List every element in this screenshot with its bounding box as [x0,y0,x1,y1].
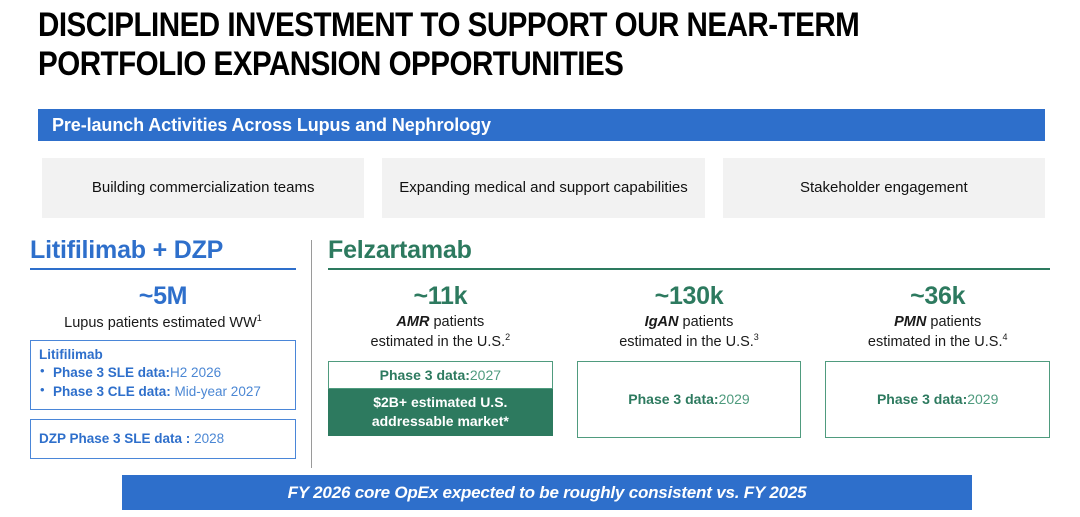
activity-box-expanding-medical-support: Expanding medical and support capabiliti… [382,158,704,218]
metric-caption-amr: AMR patientsestimated in the U.S.2 [328,313,553,352]
page-title-line-2: PORTFOLIO EXPANSION OPPORTUNITIES [38,45,908,84]
phase-data-box-amr: Phase 3 data: 2027 [328,361,553,389]
phase-year: 2027 [470,367,501,383]
opex-banner-label: FY 2026 core OpEx expected to be roughly… [288,483,807,503]
amr-boxes: Phase 3 data: 2027 $2B+ estimated U.S.ad… [328,361,553,436]
metric-value-pmn: ~36k [825,282,1050,311]
caption-line-2: estimated in the U.S. [868,334,1003,350]
indication-abbrev: PMN [894,314,926,330]
list-item: Phase 3 CLE data: Mid-year 2027 [39,382,287,402]
phase-label: Phase 3 data: [628,391,718,407]
page-title-line-1: DISCIPLINED INVESTMENT TO SUPPORT OUR NE… [38,6,908,45]
indication-column-amr: ~11k AMR patientsestimated in the U.S.2 … [328,282,553,438]
prelaunch-activities-banner-label: Pre-launch Activities Across Lupus and N… [52,115,491,136]
activity-box-row: Building commercialization teams Expandi… [42,158,1045,218]
litifilimab-milestone-list: Phase 3 SLE data:H2 2026 Phase 3 CLE dat… [39,363,287,402]
phase-label: Phase 3 data: [877,391,967,407]
pipeline-columns: Litifilimab + DZP ~5M Lupus patients est… [30,236,1050,468]
indication-abbrev: AMR [396,314,429,330]
metric-value-lupus: ~5M [30,282,296,311]
prelaunch-activities-banner: Pre-launch Activities Across Lupus and N… [38,109,1045,141]
phase-data-box-pmn: Phase 3 data: 2029 [825,361,1050,438]
addressable-market-box-amr: $2B+ estimated U.S.addressable market* [328,389,553,436]
column-divider [311,240,312,468]
column-litifilimab-dzp: Litifilimab + DZP ~5M Lupus patients est… [30,236,296,459]
metric-value-amr: ~11k [328,282,553,311]
phase-data-box-igan: Phase 3 data: 2029 [577,361,802,438]
litifilimab-milestone-box: Litifilimab Phase 3 SLE data:H2 2026 Pha… [30,340,296,410]
metric-caption-lupus: Lupus patients estimated WW1 [30,313,296,331]
indication-column-igan: ~130k IgAN patientsestimated in the U.S.… [577,282,802,438]
column-felzartamab: Felzartamab ~11k AMR patientsestimated i… [328,236,1050,438]
milestone-value: H2 2026 [170,365,221,380]
pmn-boxes: Phase 3 data: 2029 [825,361,1050,438]
dzp-milestone-year: 2028 [194,431,224,446]
activity-box-stakeholder-engagement: Stakeholder engagement [723,158,1045,218]
page-title: DISCIPLINED INVESTMENT TO SUPPORT OUR NE… [38,6,908,84]
footnote-marker: 2 [505,332,510,342]
dzp-milestone-box: DZP Phase 3 SLE data : 2028 [30,419,296,459]
felzartamab-indication-row: ~11k AMR patientsestimated in the U.S.2 … [328,282,1050,438]
igan-boxes: Phase 3 data: 2029 [577,361,802,438]
phase-year: 2029 [719,391,750,407]
footnote-marker: 4 [1002,332,1007,342]
phase-label: Phase 3 data: [380,367,470,383]
indication-column-pmn: ~36k PMN patientsestimated in the U.S.4 … [825,282,1050,438]
indication-abbrev: IgAN [645,314,679,330]
addressable-market-label: $2B+ estimated U.S.addressable market* [372,393,509,429]
metric-caption-igan: IgAN patientsestimated in the U.S.3 [577,313,802,352]
caption-rest: patients [926,314,981,330]
dzp-milestone-label: DZP Phase 3 SLE data : [39,431,190,446]
activity-box-label: Stakeholder engagement [800,178,968,198]
footnote-marker: 1 [257,313,262,323]
metric-caption-pmn: PMN patientsestimated in the U.S.4 [825,313,1050,352]
activity-box-label: Building commercialization teams [92,178,315,198]
caption-rest: patients [429,314,484,330]
activity-box-building-commercialization-teams: Building commercialization teams [42,158,364,218]
opex-banner: FY 2026 core OpEx expected to be roughly… [122,475,972,510]
metric-caption-text: Lupus patients estimated WW [64,315,257,331]
metric-value-igan: ~130k [577,282,802,311]
litifilimab-box-title: Litifilimab [39,347,287,362]
column-heading-litifilimab-dzp: Litifilimab + DZP [30,236,296,270]
activity-box-label: Expanding medical and support capabiliti… [399,178,688,198]
market-line-2: addressable market* [372,413,509,429]
footnote-marker: 3 [754,332,759,342]
market-line-1: $2B+ estimated U.S. [373,394,507,410]
list-item: Phase 3 SLE data:H2 2026 [39,363,287,383]
phase-year: 2029 [967,391,998,407]
milestone-label: Phase 3 SLE data: [53,365,170,380]
caption-rest: patients [679,314,734,330]
caption-line-2: estimated in the U.S. [371,334,506,350]
column-heading-felzartamab: Felzartamab [328,236,1050,270]
milestone-value: Mid-year 2027 [171,384,261,399]
caption-line-2: estimated in the U.S. [619,334,754,350]
milestone-label: Phase 3 CLE data: [53,384,171,399]
